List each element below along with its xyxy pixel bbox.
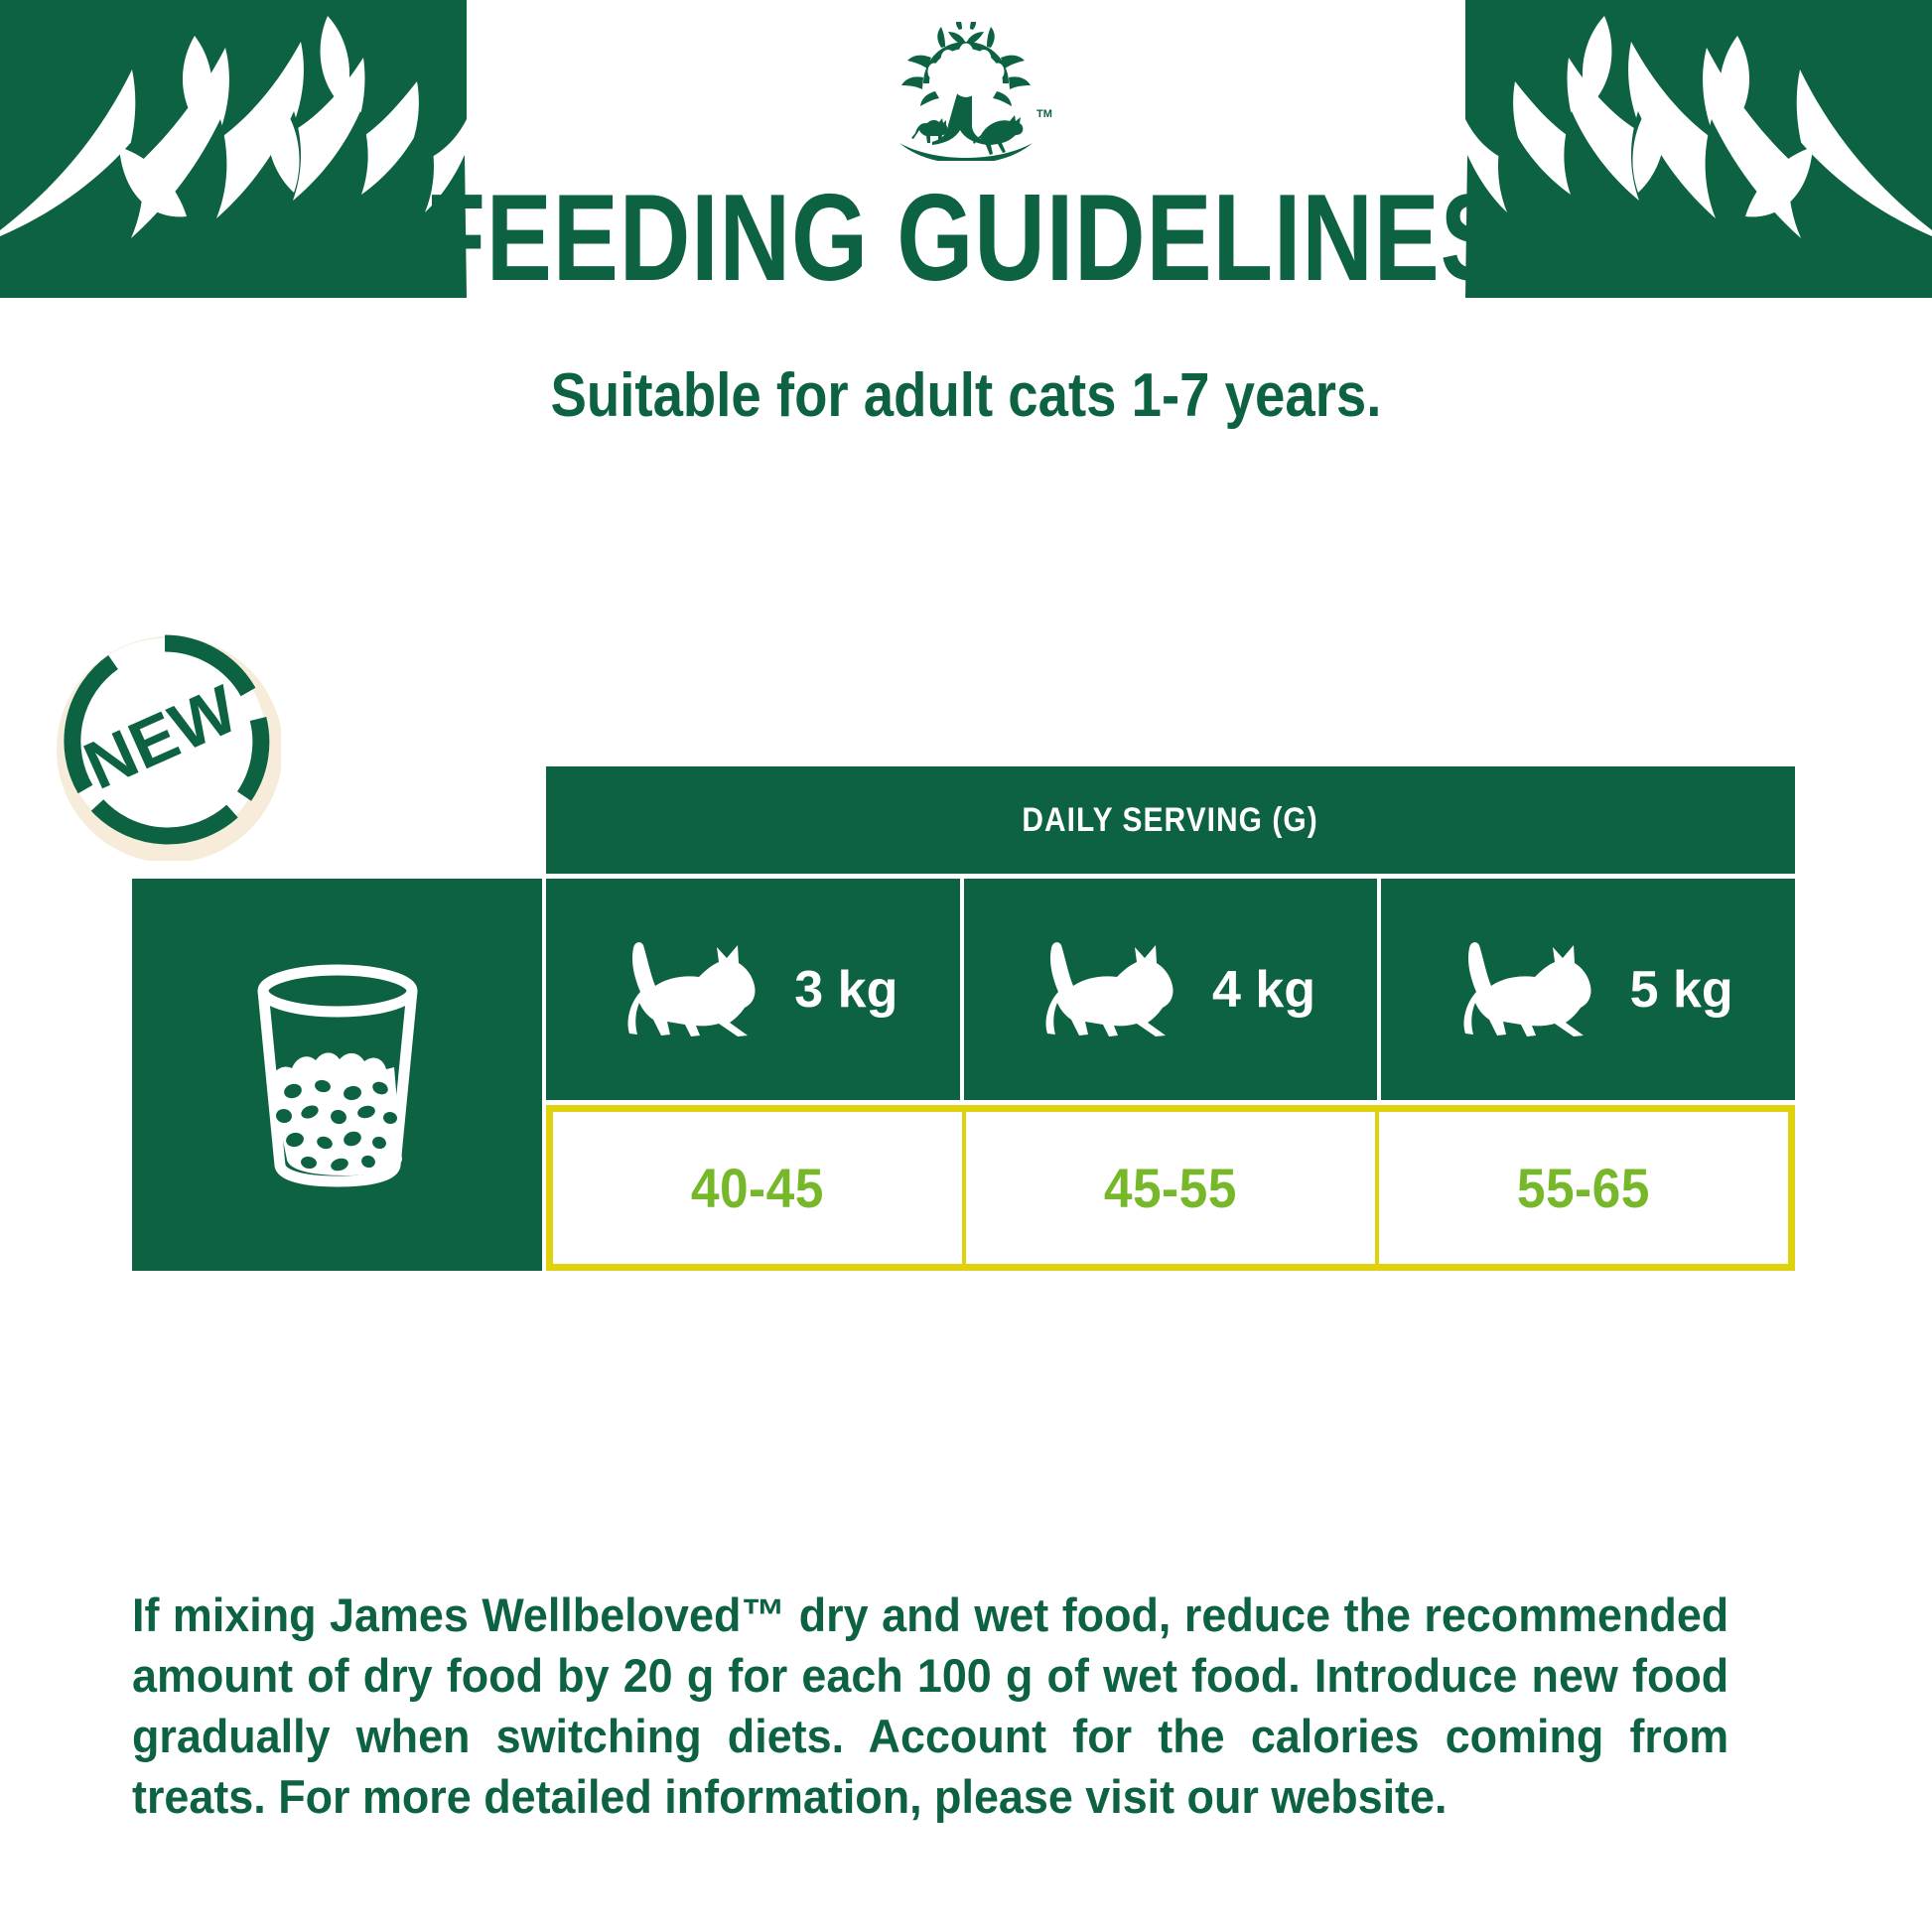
measuring-cup-icon [243,961,432,1189]
serving-value-row: 40-45 45-55 55-65 [546,1105,1795,1271]
cat-weight-label-3: 5 kg [1630,960,1733,1020]
measuring-cup-panel [132,879,542,1271]
cat-weight-cell-1: 3 kg [546,879,960,1100]
cat-icon [608,934,778,1045]
feeding-table: DAILY SERVING (G) 3 kg 4 kg 5 kg [132,766,1795,1271]
cat-weight-label-2: 4 kg [1212,960,1315,1020]
new-badge: NEW [48,627,281,861]
serving-value-cell-2: 45-55 [966,1112,1375,1264]
cat-weight-cell-2: 4 kg [964,879,1378,1100]
serving-value-1: 40-45 [691,1156,824,1220]
cat-weight-cell-3: 5 kg [1381,879,1795,1100]
daily-serving-header: DAILY SERVING (G) [546,766,1795,874]
page-subtitle: Suitable for adult cats 1-7 years. [116,365,1816,427]
daily-serving-header-label: DAILY SERVING (G) [1023,801,1318,840]
cat-icon [1444,934,1614,1045]
serving-value-2: 45-55 [1104,1156,1237,1220]
serving-value-cell-1: 40-45 [553,1112,962,1264]
serving-value-cell-3: 55-65 [1379,1112,1788,1264]
brand-logo-icon: TM [872,22,1060,161]
footnote-text: If mixing James Wellbeloved™ dry and wet… [132,1585,1728,1827]
trademark-symbol: TM [1036,108,1052,120]
cat-icon [1026,934,1196,1045]
cat-weight-label-1: 3 kg [794,960,897,1020]
page-title: FEEDING GUIDELINES [194,177,1739,300]
cat-weight-row: 3 kg 4 kg 5 kg [546,879,1795,1100]
serving-value-3: 55-65 [1517,1156,1650,1220]
feeding-guidelines-page: TM FEEDING GUIDELINES Suitable for adult… [0,0,1932,1932]
